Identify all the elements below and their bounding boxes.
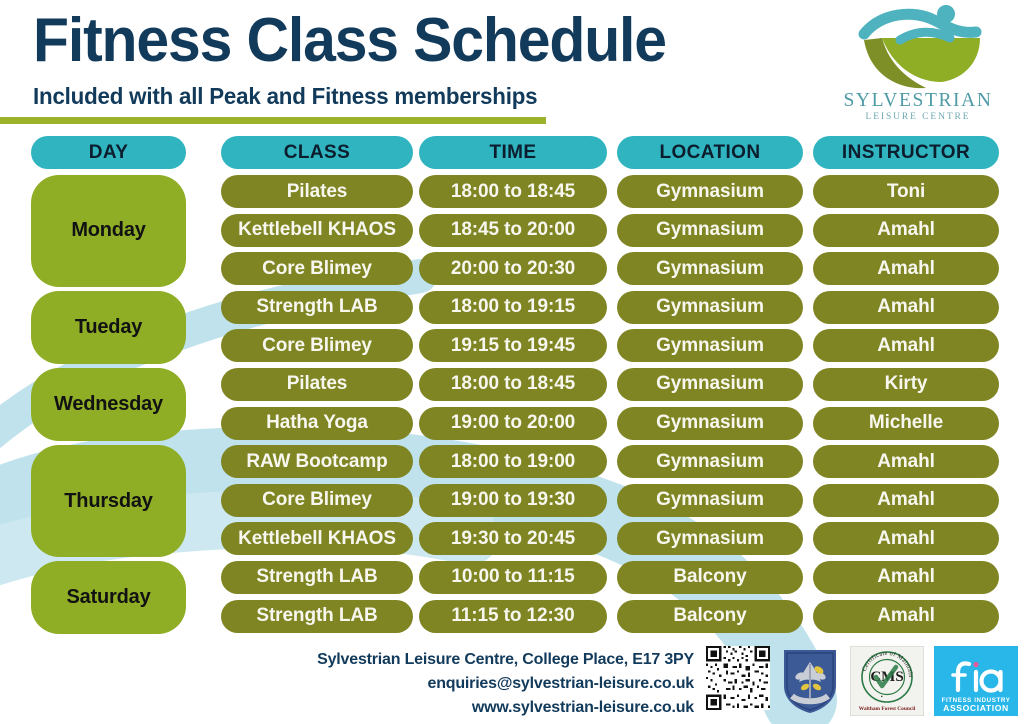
cell-time: 18:00 to 18:45 xyxy=(419,175,607,208)
cell-class: Kettlebell KHAOS xyxy=(221,214,413,247)
cell-instructor: Kirty xyxy=(813,368,999,401)
cell-time: 19:00 to 20:00 xyxy=(419,407,607,440)
table-row: Strength LAB10:00 to 11:15BalconyAmahl xyxy=(0,559,1024,598)
cell-time: 18:00 to 18:45 xyxy=(419,368,607,401)
cell-location: Gymnasium xyxy=(617,175,803,208)
poster-footer: Sylvestrian Leisure Centre, College Plac… xyxy=(0,644,1024,724)
cell-instructor: Toni xyxy=(813,175,999,208)
cell-class: Core Blimey xyxy=(221,329,413,362)
header-divider xyxy=(0,117,546,124)
brand-tagline: LEISURE CENTRE xyxy=(830,112,1006,123)
cell-class: Core Blimey xyxy=(221,252,413,285)
cell-instructor: Amahl xyxy=(813,252,999,285)
fia-logo-icon: FITNESS INDUSTRY ASSOCIATION xyxy=(934,646,1018,716)
table-row: Strength LAB11:15 to 12:30BalconyAmahl xyxy=(0,598,1024,637)
table-row: Core Blimey19:15 to 19:45GymnasiumAmahl xyxy=(0,327,1024,366)
table-row: Kettlebell KHAOS18:45 to 20:00GymnasiumA… xyxy=(0,212,1024,251)
cell-time: 18:00 to 19:00 xyxy=(419,445,607,478)
cell-class: Strength LAB xyxy=(221,291,413,324)
column-header-time: TIME xyxy=(419,136,607,169)
cell-time: 18:45 to 20:00 xyxy=(419,214,607,247)
cell-instructor: Amahl xyxy=(813,445,999,478)
cell-time: 20:00 to 20:30 xyxy=(419,252,607,285)
cell-time: 19:15 to 19:45 xyxy=(419,329,607,362)
cell-location: Gymnasium xyxy=(617,407,803,440)
table-row: Core Blimey20:00 to 20:30GymnasiumAmahl xyxy=(0,250,1024,289)
contact-block: Sylvestrian Leisure Centre, College Plac… xyxy=(317,648,694,720)
cell-location: Gymnasium xyxy=(617,214,803,247)
footer-badges: Certificate of Maintained Standards • CM… xyxy=(706,646,1018,716)
swimmer-hills-logo-icon xyxy=(830,4,1006,90)
table-row: Hatha Yoga19:00 to 20:00GymnasiumMichell… xyxy=(0,405,1024,444)
cell-class: Core Blimey xyxy=(221,484,413,517)
cell-location: Gymnasium xyxy=(617,445,803,478)
sylvestrian-logo: SYLVESTRIAN LEISURE CENTRE xyxy=(830,4,1006,128)
cell-location: Gymnasium xyxy=(617,368,803,401)
cell-class: Pilates xyxy=(221,368,413,401)
table-body: Pilates18:00 to 18:45GymnasiumToniKettle… xyxy=(0,173,1024,636)
table-header-row: DAY CLASS TIME LOCATION INSTRUCTOR xyxy=(0,136,1024,173)
cell-class: RAW Bootcamp xyxy=(221,445,413,478)
cms-seal-icon: Certificate of Maintained Standards • CM… xyxy=(850,646,924,716)
cell-location: Gymnasium xyxy=(617,522,803,555)
column-header-instructor: INSTRUCTOR xyxy=(813,136,999,169)
cell-instructor: Michelle xyxy=(813,407,999,440)
table-row: Strength LAB18:00 to 19:15GymnasiumAmahl xyxy=(0,289,1024,328)
contact-email[interactable]: enquiries@sylvestrian-leisure.co.uk xyxy=(317,672,694,696)
cell-class: Strength LAB xyxy=(221,600,413,633)
table-row: Pilates18:00 to 18:45GymnasiumKirty xyxy=(0,366,1024,405)
cell-time: 19:00 to 19:30 xyxy=(419,484,607,517)
cell-time: 19:30 to 20:45 xyxy=(419,522,607,555)
cell-time: 18:00 to 19:15 xyxy=(419,291,607,324)
svg-text:ASSOCIATION: ASSOCIATION xyxy=(943,703,1009,713)
table-row: Core Blimey19:00 to 19:30GymnasiumAmahl xyxy=(0,482,1024,521)
cell-instructor: Amahl xyxy=(813,600,999,633)
cell-instructor: Amahl xyxy=(813,291,999,324)
table-row: RAW Bootcamp18:00 to 19:00GymnasiumAmahl xyxy=(0,443,1024,482)
column-header-location: LOCATION xyxy=(617,136,803,169)
qr-code-icon[interactable] xyxy=(706,646,770,710)
table-row: Pilates18:00 to 18:45GymnasiumToni xyxy=(0,173,1024,212)
fitness-class-schedule-poster: Fitness Class Schedule Included with all… xyxy=(0,0,1024,724)
cell-location: Gymnasium xyxy=(617,291,803,324)
cell-instructor: Amahl xyxy=(813,484,999,517)
cell-location: Gymnasium xyxy=(617,484,803,517)
cell-class: Pilates xyxy=(221,175,413,208)
cell-time: 10:00 to 11:15 xyxy=(419,561,607,594)
cell-instructor: Amahl xyxy=(813,214,999,247)
cell-instructor: Amahl xyxy=(813,561,999,594)
schedule-table: DAY CLASS TIME LOCATION INSTRUCTOR Monda… xyxy=(0,136,1024,636)
cell-class: Hatha Yoga xyxy=(221,407,413,440)
svg-text:Waltham Forest Council: Waltham Forest Council xyxy=(859,706,916,712)
brand-name: SYLVESTRIAN xyxy=(830,91,1006,111)
cell-location: Balcony xyxy=(617,561,803,594)
cell-instructor: Amahl xyxy=(813,329,999,362)
cell-location: Balcony xyxy=(617,600,803,633)
contact-website[interactable]: www.sylvestrian-leisure.co.uk xyxy=(317,696,694,720)
page-title: Fitness Class Schedule xyxy=(33,8,666,74)
cell-location: Gymnasium xyxy=(617,252,803,285)
cell-instructor: Amahl xyxy=(813,522,999,555)
cell-location: Gymnasium xyxy=(617,329,803,362)
cell-time: 11:15 to 12:30 xyxy=(419,600,607,633)
cell-class: Kettlebell KHAOS xyxy=(221,522,413,555)
contact-address: Sylvestrian Leisure Centre, College Plac… xyxy=(317,648,694,672)
column-header-class: CLASS xyxy=(221,136,413,169)
cell-class: Strength LAB xyxy=(221,561,413,594)
page-subtitle: Included with all Peak and Fitness membe… xyxy=(33,83,537,109)
table-row: Kettlebell KHAOS19:30 to 20:45GymnasiumA… xyxy=(0,520,1024,559)
column-header-day: DAY xyxy=(31,136,186,169)
school-crest-icon xyxy=(780,646,840,714)
